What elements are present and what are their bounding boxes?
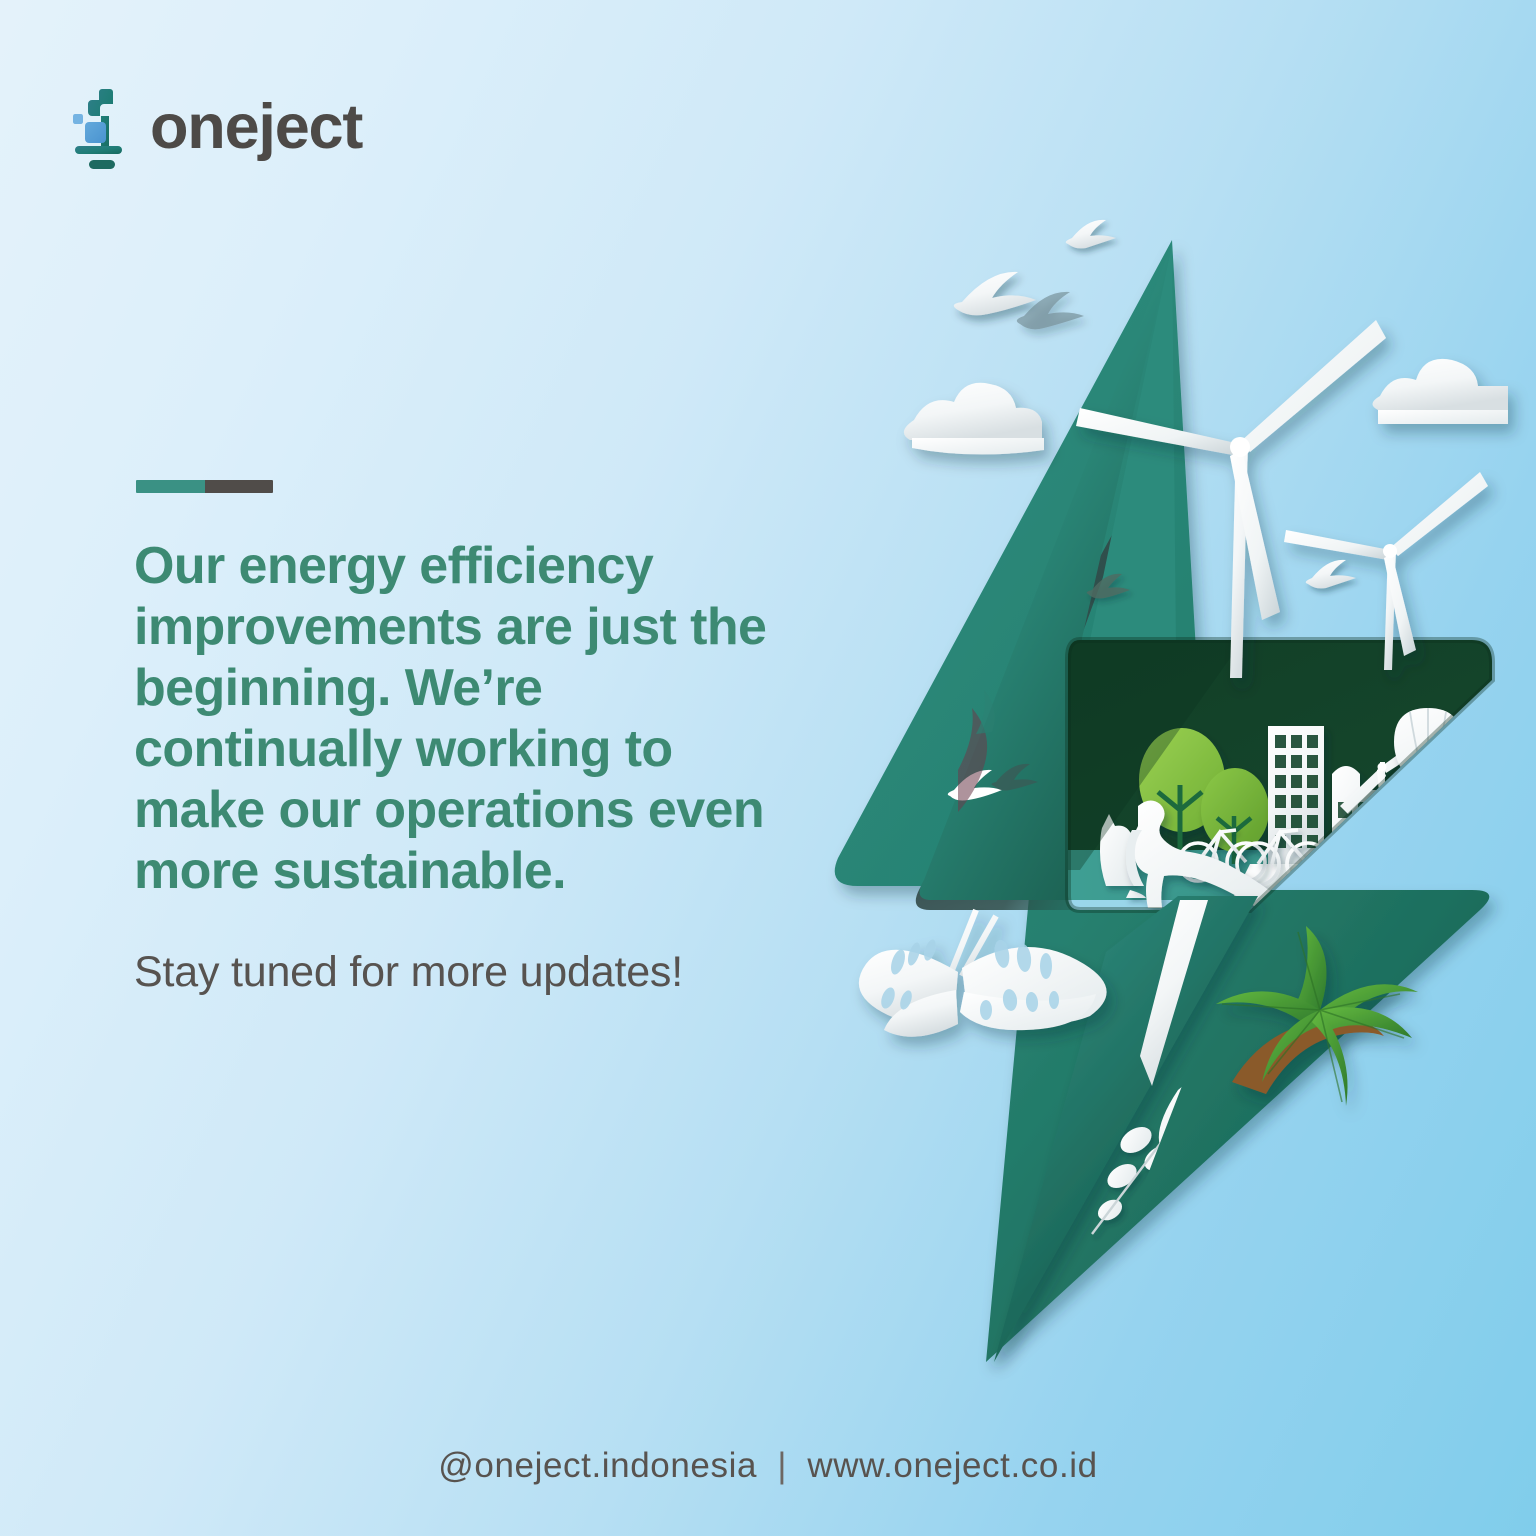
brand-wordmark: oneject xyxy=(150,96,362,165)
subline-text: Stay tuned for more updates! xyxy=(134,948,814,997)
papercut-lightning-illustration xyxy=(780,210,1536,1390)
headline-text: Our energy efficiency improvements are j… xyxy=(134,536,774,903)
bolt-inner-scene xyxy=(1056,630,1506,934)
social-post-canvas: oneject Our energy efficiency improvemen… xyxy=(0,0,1536,1536)
bird-icon xyxy=(1306,560,1356,589)
bird-icon xyxy=(1066,220,1116,249)
wisp xyxy=(1420,818,1428,894)
footer-website[interactable]: www.oneject.co.id xyxy=(807,1446,1097,1485)
brand-logo[interactable]: oneject xyxy=(72,84,362,176)
accent-divider-segment-dark xyxy=(205,480,274,493)
bird-icon xyxy=(954,272,1036,315)
footer-separator: | xyxy=(767,1446,797,1485)
footer-contact: @oneject.indonesia | www.oneject.co.id xyxy=(0,1446,1536,1486)
accent-divider xyxy=(136,480,273,493)
illustration-svg xyxy=(780,210,1536,1390)
cloud-icon xyxy=(1372,359,1508,424)
footer-instagram-handle[interactable]: @oneject.indonesia xyxy=(438,1446,757,1485)
injector-device-icon xyxy=(72,86,134,174)
cloud-icon xyxy=(904,383,1044,455)
hot-air-balloon-icon xyxy=(1455,756,1493,805)
accent-divider-segment-teal xyxy=(136,480,205,493)
